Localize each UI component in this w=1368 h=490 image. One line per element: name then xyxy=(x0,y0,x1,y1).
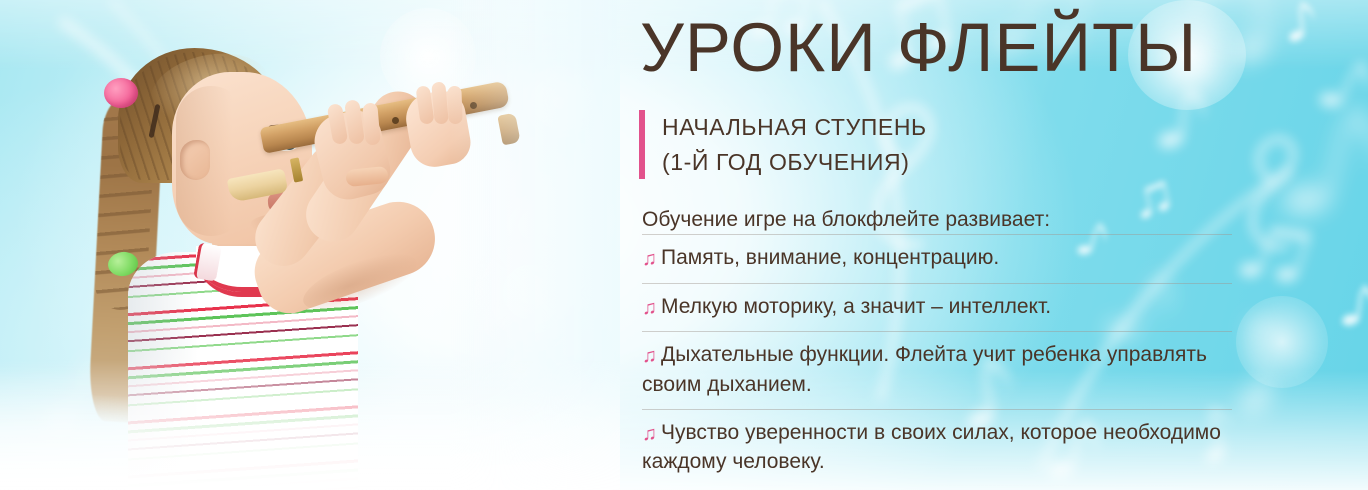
list-item: ♫Мелкую моторику, а значит – интеллект. xyxy=(642,283,1232,332)
ear xyxy=(180,140,210,180)
list-item: ♫Дыхательные функции. Флейта учит ребенк… xyxy=(642,331,1232,409)
list-item-text: Память, внимание, концентрацию. xyxy=(661,246,999,269)
benefits-list: ♫Память, внимание, концентрацию. ♫Мелкую… xyxy=(642,234,1232,486)
subtitle-block: НАЧАЛЬНАЯ СТУПЕНЬ (1-Й ГОД ОБУЧЕНИЯ) xyxy=(639,110,927,179)
list-item-text: Мелкую моторику, а значит – интеллект. xyxy=(661,295,1051,318)
intro-text: Обучение игре на блокфлейте развивает: xyxy=(642,206,1050,234)
list-item-text: Чувство уверенности в своих силах, котор… xyxy=(642,421,1221,474)
subtitle-line-1: НАЧАЛЬНАЯ СТУПЕНЬ xyxy=(662,110,927,145)
music-note-icon: ♫ xyxy=(642,421,657,449)
list-item: ♫Чувство уверенности в своих силах, кото… xyxy=(642,409,1232,487)
flute-lessons-banner: УРОКИ ФЛЕЙТЫ НАЧАЛЬНАЯ СТУПЕНЬ (1-Й ГОД … xyxy=(0,0,1368,490)
banner-content: УРОКИ ФЛЕЙТЫ НАЧАЛЬНАЯ СТУПЕНЬ (1-Й ГОД … xyxy=(636,0,1336,490)
music-note-icon: ♫ xyxy=(642,246,657,274)
finger xyxy=(431,81,449,124)
girl-playing-recorder-photo xyxy=(0,0,620,490)
subtitle-line-2: (1-Й ГОД ОБУЧЕНИЯ) xyxy=(662,145,927,180)
list-item-text: Дыхательные функции. Флейта учит ребенка… xyxy=(642,343,1207,396)
music-note-icon: ♫ xyxy=(642,343,657,371)
recorder-hole xyxy=(392,117,399,124)
photo-bottom-fade xyxy=(0,360,620,490)
page-title: УРОКИ ФЛЕЙТЫ xyxy=(640,13,1197,82)
list-item: ♫Память, внимание, концентрацию. xyxy=(642,234,1232,283)
music-note-icon: ♫ xyxy=(642,295,657,323)
hair-tie-pink xyxy=(104,78,138,108)
